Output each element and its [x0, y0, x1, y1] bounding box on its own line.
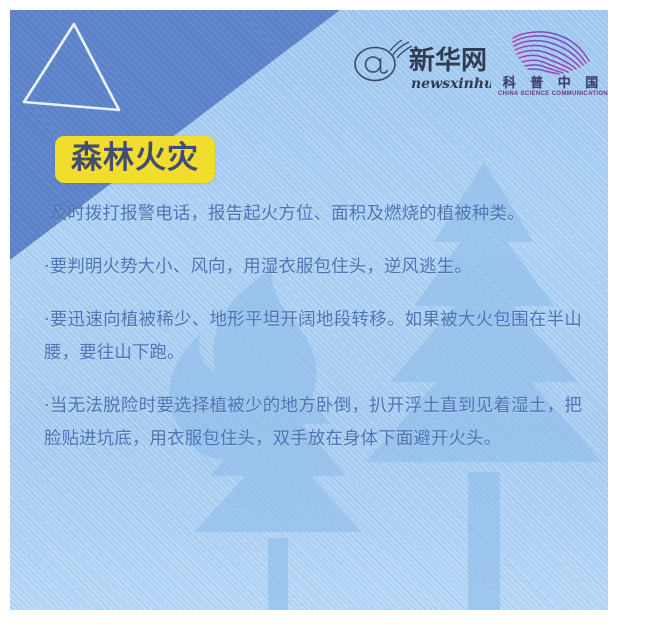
xinhua-logo: 新华网 newsxinhua: [353, 36, 491, 96]
safety-tip-item: ·要判明火势大小、风向，用湿衣服包住头，逆风逃生。: [44, 251, 582, 284]
infographic-poster: 新华网 newsxinhua: [10, 10, 608, 610]
safety-tip-item: ·要迅速向植被稀少、地形平坦开阔地段转移。如果被大火包围在半山腰，要往山下跑。: [44, 304, 582, 370]
section-title-badge: 森林火灾: [55, 136, 215, 183]
safety-tip-item: ·当无法脱险时要选择植被少的地方卧倒，扒开浮土直到见着湿土，把脸贴进坑底，用衣服…: [44, 390, 582, 456]
kepu-logo-name-en: CHINA SCIENCE COMMUNICATION: [497, 91, 608, 97]
kepu-logo-name-cn: 科 普 中 国: [497, 72, 608, 91]
xinhua-logo-name-cn: 新华网: [409, 45, 487, 76]
safety-tip-item: ·及时拨打报警电话，报告起火方位、面积及燃烧的植被种类。: [44, 198, 582, 231]
safety-tips-list: ·及时拨打报警电话，报告起火方位、面积及燃烧的植被种类。 ·要判明火势大小、风向…: [44, 198, 582, 456]
poster-header: 新华网 newsxinhua: [10, 10, 608, 122]
kepu-china-logo: 科 普 中 国 CHINA SCIENCE COMMUNICATION: [497, 28, 608, 110]
kepu-wing-icon: [497, 28, 608, 76]
xinhua-logo-name-en: newsxinhua: [411, 76, 491, 92]
section-title-text: 森林火灾: [71, 139, 199, 177]
